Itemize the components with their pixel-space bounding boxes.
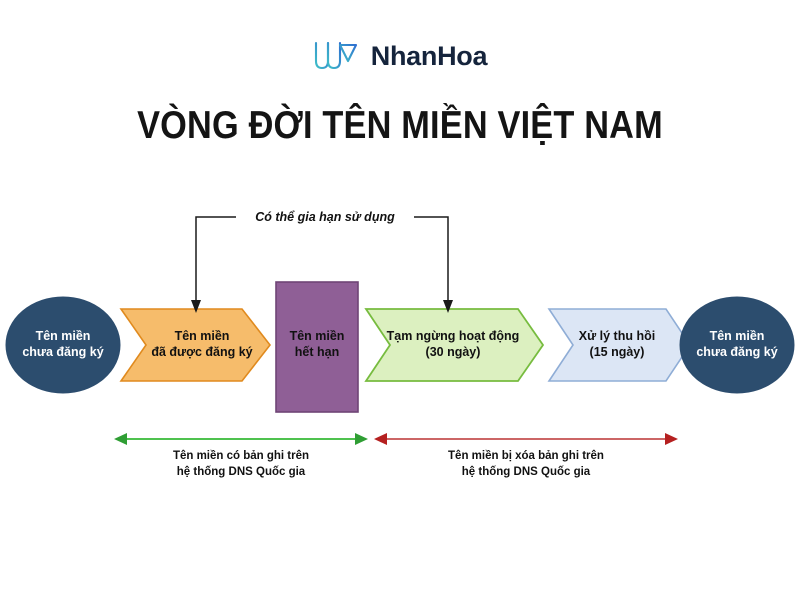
bottom-annotation-arrow-dns-present xyxy=(114,433,368,445)
domain-lifecycle-diagram: Tên miền chưa đăng ký Tên miền đã được đ… xyxy=(0,0,800,600)
bottom-annotation-dns-present-line1: Tên miền có bản ghi trên xyxy=(110,449,372,465)
stage-shape-start xyxy=(6,297,120,393)
bottom-annotation-arrow-dns-removed xyxy=(374,433,678,445)
stage-shape-registered xyxy=(121,309,270,381)
stage-shape-end xyxy=(680,297,794,393)
bottom-annotation-label-dns-removed: Tên miền bị xóa bản ghi trên hệ thống DN… xyxy=(386,449,666,480)
stage-shape-suspended xyxy=(366,309,543,381)
top-annotation-label: Có thể gia hạn sử dụng xyxy=(236,210,414,224)
bottom-annotation-label-dns-present: Tên miền có bản ghi trên hệ thống DNS Qu… xyxy=(110,449,372,480)
stage-shape-expired xyxy=(276,282,358,412)
bottom-annotation-dns-removed-line2: hệ thống DNS Quốc gia xyxy=(386,465,666,481)
bottom-annotation-dns-removed-line1: Tên miền bị xóa bản ghi trên xyxy=(386,449,666,465)
stage-shape-revocation xyxy=(549,309,690,381)
bottom-annotation-dns-present-line2: hệ thống DNS Quốc gia xyxy=(110,465,372,481)
